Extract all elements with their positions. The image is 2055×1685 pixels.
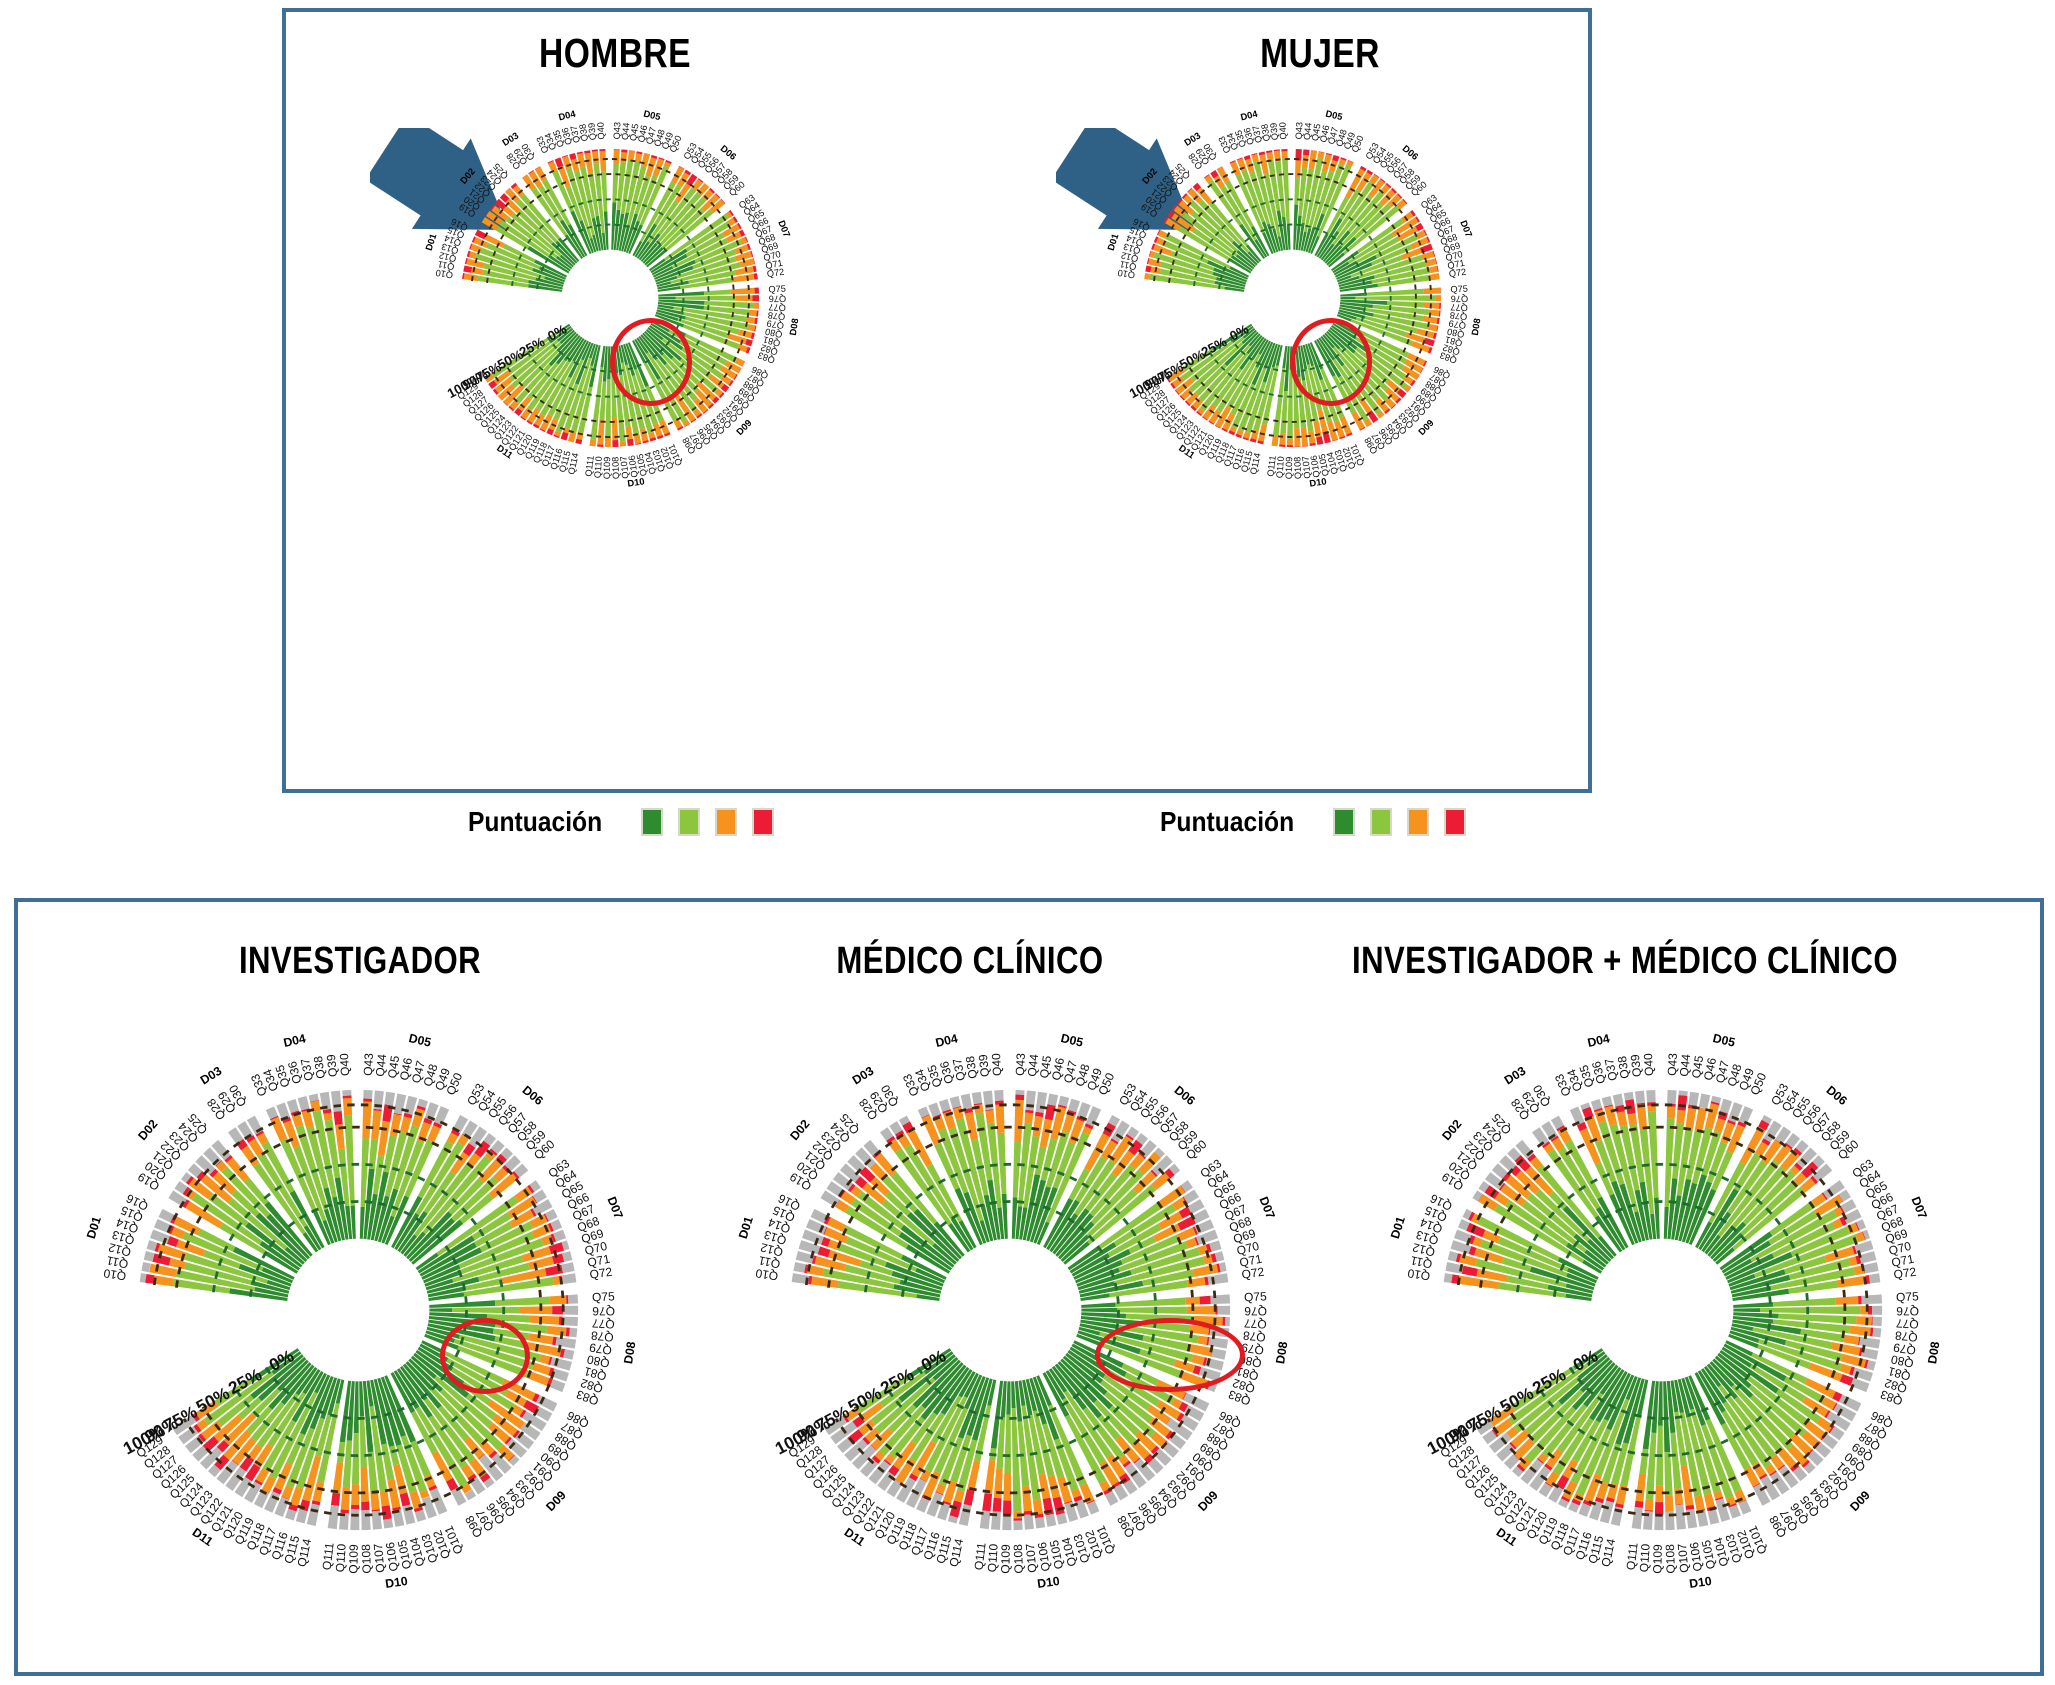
radial-bar-segment	[343, 1095, 352, 1098]
radial-bar-segment	[1704, 1493, 1715, 1508]
radial-bar-segment	[1218, 1306, 1230, 1315]
radial-bar-segment	[1635, 1091, 1645, 1104]
question-label: Q75	[768, 284, 786, 295]
domain-label: D06	[1172, 1083, 1198, 1108]
radial-bar-segment	[1013, 1521, 1022, 1531]
domain-label: D01	[1106, 232, 1121, 251]
radial-bar-segment	[1115, 1298, 1186, 1307]
radial-bar-segment	[959, 1504, 972, 1526]
radial-bar-segment	[1002, 1514, 1011, 1530]
radial-bar-segment	[1006, 1381, 1010, 1414]
question-label: Q72	[1448, 267, 1467, 279]
radial-bar-segment	[351, 1484, 359, 1505]
radial-axis-tick: 0%	[545, 321, 569, 343]
radial-bar-segment	[552, 1253, 564, 1264]
radial-bar-segment	[1627, 1113, 1637, 1125]
radial-bar-segment	[1679, 1091, 1688, 1096]
domain-label: D08	[1470, 318, 1483, 337]
radial-bar-segment	[1022, 1486, 1032, 1511]
radial-bar-segment	[1222, 1317, 1225, 1326]
question-label: Q109	[998, 1544, 1012, 1574]
radial-bar-segment	[568, 1294, 578, 1303]
radial-axis-tick: 50%	[193, 1383, 233, 1417]
radial-bar-segment	[561, 1262, 574, 1273]
radial-bar-segment	[620, 441, 626, 447]
radial-bar-segment	[1645, 1499, 1654, 1510]
domain-label: D03	[850, 1064, 877, 1088]
radial-axis-tick: 50%	[845, 1383, 885, 1417]
radial-bar-segment	[1340, 293, 1367, 297]
domain-label: D10	[384, 1574, 408, 1591]
legend-mujer: Puntuación	[1160, 805, 1466, 839]
radial-bar-segment	[363, 1099, 372, 1102]
domain-label: D02	[135, 1117, 160, 1143]
radial-bar-segment	[351, 1505, 359, 1509]
radial-bar-segment	[145, 1274, 154, 1284]
radial-bar-segment	[529, 1316, 559, 1325]
radial-bar-segment	[599, 151, 606, 171]
radial-bar-segment	[1198, 1336, 1208, 1345]
legend-swatch-score-1	[752, 808, 774, 836]
radial-bar-segment	[1637, 1104, 1648, 1130]
domain-label: D04	[934, 1031, 959, 1050]
radial-chart-investigador-medico: Q10Q11Q12Q13Q14Q15Q16D01Q19Q20Q21Q22Q23Q…	[1352, 1000, 1972, 1660]
radial-bar-segment	[605, 437, 611, 447]
radial-bar-segment	[1864, 1262, 1879, 1273]
radial-bar-segment	[1646, 1090, 1655, 1102]
radial-bar-segment	[982, 1493, 992, 1511]
radial-bar-segment	[362, 1101, 372, 1138]
radial-bar-segment	[1849, 1326, 1870, 1336]
radial-bar-segment	[1003, 1500, 1011, 1514]
radial-bar-segment	[1869, 1273, 1880, 1283]
question-label: Q76	[1896, 1304, 1919, 1318]
radial-chart-investigador: Q10Q11Q12Q13Q14Q15Q16D01Q19Q20Q21Q22Q23Q…	[48, 1000, 668, 1660]
radial-bar-segment	[1025, 1091, 1035, 1111]
domain-label: D06	[520, 1083, 546, 1108]
domain-label: D03	[501, 130, 521, 148]
radial-bar-segment	[563, 1306, 578, 1315]
question-label: Q75	[592, 1289, 616, 1304]
legend-title-mujer: Puntuación	[1160, 806, 1294, 838]
domain-label: D04	[1240, 109, 1260, 123]
domain-label: D04	[558, 109, 578, 123]
radial-bar-segment	[640, 428, 649, 442]
radial-bar-segment	[328, 1505, 339, 1529]
radial-bar-segment	[1435, 295, 1441, 301]
domain-label: D07	[1908, 1195, 1929, 1221]
radial-bar-segment	[1013, 1518, 1022, 1521]
chart-hub	[562, 250, 659, 347]
radial-bar-segment	[599, 149, 605, 151]
radial-bar-segment	[1835, 1296, 1858, 1305]
chart-hub	[287, 1239, 430, 1382]
question-label: Q40	[1277, 122, 1288, 140]
domain-label: D06	[1824, 1083, 1850, 1108]
radial-bar-segment	[1316, 436, 1323, 445]
question-label: Q72	[766, 267, 785, 279]
domain-label: D04	[1586, 1031, 1611, 1050]
radial-bar-segment	[1675, 1505, 1686, 1530]
radial-bar-segment	[1861, 1294, 1882, 1304]
radial-bar-segment	[298, 1096, 310, 1110]
radial-bar-segment	[342, 1090, 351, 1096]
radial-bar-segment	[607, 346, 610, 379]
chart-title-medico-clinico: MÉDICO CLÍNICO	[708, 940, 1233, 983]
question-label: Q40	[989, 1053, 1004, 1077]
radial-bar-segment	[625, 426, 632, 439]
radial-bar-segment	[553, 1276, 560, 1285]
radial-bar-segment	[954, 1490, 965, 1503]
radial-bar-segment	[1667, 1106, 1676, 1118]
radial-bar-segment	[550, 1379, 566, 1392]
question-label: Q72	[1241, 1265, 1266, 1282]
domain-label: D07	[776, 219, 792, 239]
radial-bar-segment	[1148, 258, 1161, 267]
radial-bar-segment	[153, 1275, 174, 1286]
radial-bar-segment	[1733, 1302, 1773, 1308]
domain-label: D08	[1273, 1340, 1290, 1365]
radial-bar-segment	[1210, 1294, 1230, 1304]
radial-bar-segment	[1676, 1110, 1685, 1124]
radial-bar-segment	[302, 1110, 314, 1128]
radial-bar-segment	[1424, 338, 1435, 347]
radial-bar-segment	[337, 1442, 345, 1463]
radial-bar-segment	[1317, 152, 1324, 159]
domain-label: D06	[718, 143, 738, 162]
domain-label: D09	[1195, 1488, 1221, 1514]
chart-title-hombre: HOMBRE	[463, 30, 766, 77]
domain-label: D02	[458, 166, 477, 186]
radial-bar-segment	[429, 1308, 452, 1312]
radial-bar-segment	[487, 1314, 530, 1322]
radial-bar-segment	[1655, 1502, 1663, 1515]
radial-bar-segment	[1194, 1316, 1223, 1326]
radial-bar-segment	[1872, 1317, 1882, 1326]
question-label: Q76	[1244, 1304, 1267, 1318]
radial-bar-segment	[1045, 1104, 1056, 1120]
radial-bar-segment	[985, 1460, 996, 1494]
chart-hub	[939, 1239, 1082, 1382]
radial-bar-segment	[993, 1498, 1002, 1512]
radial-bar-segment	[1694, 1495, 1705, 1510]
chart-title-investigador-medico: INVESTIGADOR + MÉDICO CLÍNICO	[1297, 940, 1953, 983]
radial-bar-segment	[1191, 1354, 1205, 1365]
radial-bar-segment	[754, 287, 759, 293]
radial-bar-segment	[1773, 1298, 1835, 1307]
radial-bar-segment	[1272, 436, 1279, 447]
radial-chart-hombre: Q10Q11Q12Q13Q14Q15Q16D01Q19Q20Q21Q22Q23Q…	[400, 88, 820, 748]
radial-bar-segment	[961, 1094, 973, 1110]
domain-label: D02	[1439, 1117, 1464, 1143]
radial-bar-segment	[620, 152, 627, 163]
radial-chart-medico-clinico: Q10Q11Q12Q13Q14Q15Q16D01Q19Q20Q21Q22Q23Q…	[700, 1000, 1320, 1660]
domain-label: D02	[787, 1117, 812, 1143]
radial-bar-segment	[562, 1273, 577, 1284]
radial-bar-segment	[1636, 1473, 1647, 1501]
radial-bar-segment	[361, 1510, 370, 1530]
radial-bar-segment	[1462, 1266, 1478, 1277]
legend-swatch-score-1	[1444, 808, 1466, 836]
radial-bar-segment	[341, 1487, 350, 1510]
domain-label: D01	[424, 232, 439, 251]
domain-label: D08	[788, 318, 801, 337]
radial-bar-segment	[1187, 1306, 1216, 1314]
radial-bar-segment	[1081, 1303, 1115, 1308]
radial-bar-segment	[331, 1091, 342, 1112]
radial-bar-segment	[676, 296, 736, 301]
radial-bar-segment	[1439, 303, 1441, 309]
radial-bar-segment	[1011, 1381, 1015, 1408]
radial-bar-segment	[333, 1462, 344, 1494]
radial-bar-segment	[361, 1501, 369, 1510]
question-label: Q109	[346, 1544, 360, 1574]
domain-label: D01	[1388, 1215, 1408, 1241]
radial-bar-segment	[1444, 1273, 1453, 1283]
radial-bar-segment	[1281, 149, 1287, 151]
radial-bar-segment	[627, 439, 634, 446]
radial-bar-segment	[1429, 266, 1437, 273]
radial-bar-segment	[577, 153, 585, 167]
radial-bar-segment	[568, 431, 576, 442]
radial-bar-segment	[605, 379, 611, 437]
radial-bar-segment	[1225, 1317, 1230, 1326]
radial-bar-segment	[1635, 1501, 1644, 1508]
radial-bar-segment	[1685, 1108, 1696, 1129]
radial-bar-segment	[994, 1090, 1003, 1101]
question-label: Q108	[1011, 1544, 1026, 1574]
radial-bar-segment	[1281, 151, 1287, 158]
radial-bar-segment	[1053, 1497, 1065, 1516]
domain-label: D07	[604, 1195, 625, 1221]
radial-bar-segment	[1185, 1297, 1199, 1305]
legend-swatch-score-3	[1370, 808, 1392, 836]
radial-bar-segment	[1873, 1328, 1882, 1338]
radial-bar-segment	[383, 1518, 393, 1528]
radial-bar-segment	[1647, 1106, 1656, 1112]
domain-label: D07	[1256, 1195, 1277, 1221]
radial-bar-segment	[753, 295, 760, 301]
radial-bar-segment	[363, 1090, 372, 1099]
radial-bar-segment	[1665, 1496, 1674, 1512]
radial-bar-segment	[1279, 433, 1286, 444]
chart-title-mujer: MUJER	[1168, 30, 1471, 77]
question-label: Q72	[1893, 1265, 1918, 1282]
chart-hub	[1591, 1239, 1734, 1382]
radial-bar-segment	[371, 1110, 381, 1139]
radial-bar-segment	[452, 1307, 519, 1314]
radial-bar-segment	[323, 1113, 332, 1121]
radial-bar-segment	[1844, 1335, 1860, 1345]
radial-bar-segment	[1667, 1090, 1676, 1104]
radial-bar-segment	[1632, 1507, 1643, 1529]
radial-bar-segment	[1302, 155, 1309, 168]
domain-label: D10	[1688, 1574, 1712, 1591]
radial-bar-segment	[1045, 1514, 1056, 1527]
question-label: Q75	[1896, 1289, 1920, 1304]
radial-bar-segment	[354, 1381, 359, 1433]
radial-bar-segment	[352, 1433, 359, 1484]
radial-bar-segment	[1664, 1452, 1672, 1496]
radial-bar-segment	[429, 1300, 495, 1308]
question-label: Q108	[359, 1544, 374, 1574]
radial-bar-segment	[1639, 1449, 1648, 1474]
radial-bar-segment	[1720, 1099, 1732, 1114]
radial-bar-segment	[333, 1111, 342, 1125]
radial-bar-segment	[1117, 1307, 1187, 1314]
radial-bar-segment	[1858, 1296, 1862, 1304]
radial-bar-segment	[749, 310, 757, 317]
radial-bar-segment	[1211, 1348, 1226, 1359]
radial-bar-segment	[1308, 431, 1315, 443]
domain-label: D03	[198, 1064, 225, 1088]
radial-bar-segment	[953, 1107, 964, 1120]
radial-bar-segment	[1015, 1095, 1024, 1101]
radial-bar-segment	[1279, 444, 1285, 447]
radial-bar-segment	[1068, 1099, 1080, 1113]
radial-bar-segment	[1423, 287, 1441, 294]
radial-bar-segment	[1266, 152, 1273, 160]
radial-bar-segment	[287, 1099, 299, 1113]
legend-swatch-score-3	[678, 808, 700, 836]
radial-bar-segment	[400, 1116, 411, 1133]
radial-bar-segment	[563, 1349, 574, 1360]
radial-bar-segment	[1677, 1095, 1687, 1111]
domain-label: D10	[627, 476, 645, 488]
question-label: Q75	[1244, 1289, 1268, 1304]
radial-bar-segment	[385, 1092, 396, 1106]
radial-bar-segment	[628, 150, 635, 159]
radial-bar-segment	[658, 291, 704, 296]
radial-bar-segment	[1856, 1316, 1872, 1325]
domain-label: D01	[84, 1215, 104, 1241]
radial-bar-segment	[307, 1504, 320, 1526]
radial-bar-segment	[546, 1326, 566, 1336]
radial-bar-segment	[1872, 1306, 1882, 1315]
question-label: Q75	[1450, 284, 1468, 295]
domain-label: D05	[1324, 109, 1343, 123]
radial-bar-segment	[1708, 1509, 1720, 1524]
domain-label: D09	[1847, 1488, 1873, 1514]
domain-label: D06	[1400, 143, 1420, 162]
domain-label: D10	[1036, 1574, 1060, 1591]
radial-bar-segment	[1295, 160, 1301, 178]
radial-bar-segment	[1003, 1473, 1011, 1501]
radial-chart-mujer: Q10Q11Q12Q13Q14Q15Q16D01Q19Q20Q21Q22Q23Q…	[1082, 88, 1502, 748]
domain-label: D03	[1183, 130, 1203, 148]
radial-bar-segment	[1015, 1090, 1024, 1095]
radial-bar-segment	[1688, 1092, 1699, 1106]
domain-label: D04	[282, 1031, 307, 1050]
radial-bar-segment	[597, 444, 603, 447]
radial-bar-segment	[613, 149, 619, 164]
radial-bar-segment	[1859, 1337, 1880, 1349]
domain-label: D09	[543, 1488, 569, 1514]
radial-bar-segment	[1144, 273, 1149, 280]
radial-bar-segment	[1208, 1273, 1229, 1284]
radial-bar-segment	[1035, 1517, 1045, 1529]
radial-bar-segment	[552, 1306, 563, 1314]
domain-label: D03	[1502, 1064, 1529, 1088]
question-label: Q40	[1641, 1053, 1656, 1077]
radial-bar-segment	[1303, 149, 1310, 155]
radial-bar-segment	[400, 1492, 411, 1506]
radial-bar-segment	[1714, 1118, 1726, 1133]
radial-bar-segment	[569, 1328, 577, 1338]
radial-bar-segment	[1624, 1092, 1634, 1101]
domain-label: D08	[621, 1340, 638, 1365]
radial-bar-segment	[1081, 1308, 1117, 1312]
radial-bar-segment	[296, 1509, 308, 1523]
radial-bar-segment	[292, 1113, 303, 1127]
radial-bar-segment	[1294, 178, 1300, 205]
legend-title-hombre: Puntuación	[468, 806, 602, 838]
domain-label: D01	[736, 1215, 756, 1241]
chart-hub	[1244, 250, 1341, 347]
legend-hombre: Puntuación	[468, 805, 774, 839]
radial-bar-segment	[972, 1092, 982, 1104]
domain-label: D05	[642, 109, 661, 123]
radial-bar-segment	[464, 273, 479, 281]
legend-swatch-score-4	[641, 808, 663, 836]
radial-bar-segment	[793, 1262, 805, 1273]
radial-bar-segment	[141, 1262, 150, 1272]
domain-label: D05	[1059, 1031, 1084, 1050]
question-label: Q40	[595, 122, 606, 140]
question-label: Q109	[1650, 1544, 1664, 1574]
radial-bar-segment	[748, 324, 755, 331]
radial-bar-segment	[1036, 1092, 1048, 1113]
domain-label: D08	[1925, 1340, 1942, 1365]
radial-bar-segment	[612, 440, 618, 447]
radial-bar-segment	[539, 1354, 550, 1364]
radial-bar-segment	[1032, 1116, 1043, 1137]
radial-bar-segment	[1056, 1513, 1067, 1525]
question-label: Q76	[592, 1304, 615, 1318]
radial-bar-segment	[519, 1306, 552, 1314]
radial-bar-segment	[1654, 1515, 1663, 1530]
radial-bar-segment	[552, 1369, 569, 1382]
legend-swatch-score-2	[1407, 808, 1429, 836]
radial-bar-segment	[343, 1098, 352, 1116]
radial-bar-segment	[1287, 439, 1293, 445]
radial-bar-segment	[1199, 1296, 1210, 1305]
radial-bar-segment	[597, 419, 604, 445]
radial-bar-segment	[1686, 1509, 1697, 1529]
question-label: Q108	[1663, 1544, 1678, 1574]
domain-label: D05	[407, 1031, 432, 1050]
radial-bar-segment	[1287, 445, 1293, 447]
radial-bar-segment	[331, 1493, 340, 1506]
radial-bar-segment	[592, 151, 599, 163]
radial-bar-segment	[1613, 1094, 1624, 1107]
radial-bar-segment	[1004, 1415, 1011, 1474]
domain-label: D02	[1140, 166, 1159, 186]
question-label: Q72	[589, 1265, 614, 1282]
radial-bar-segment	[463, 265, 472, 272]
radial-bar-segment	[658, 297, 676, 300]
radial-bar-segment	[361, 1467, 369, 1502]
radial-bar-segment	[1340, 297, 1355, 300]
radial-bar-segment	[753, 303, 759, 309]
radial-bar-segment	[1859, 1251, 1876, 1263]
radial-bar-segment	[1024, 1112, 1033, 1123]
domain-label: D05	[1711, 1031, 1736, 1050]
radial-bar-segment	[635, 153, 642, 162]
radial-bar-segment	[350, 1509, 359, 1530]
radial-bar-segment	[950, 1096, 961, 1108]
radial-bar-segment	[590, 439, 597, 446]
